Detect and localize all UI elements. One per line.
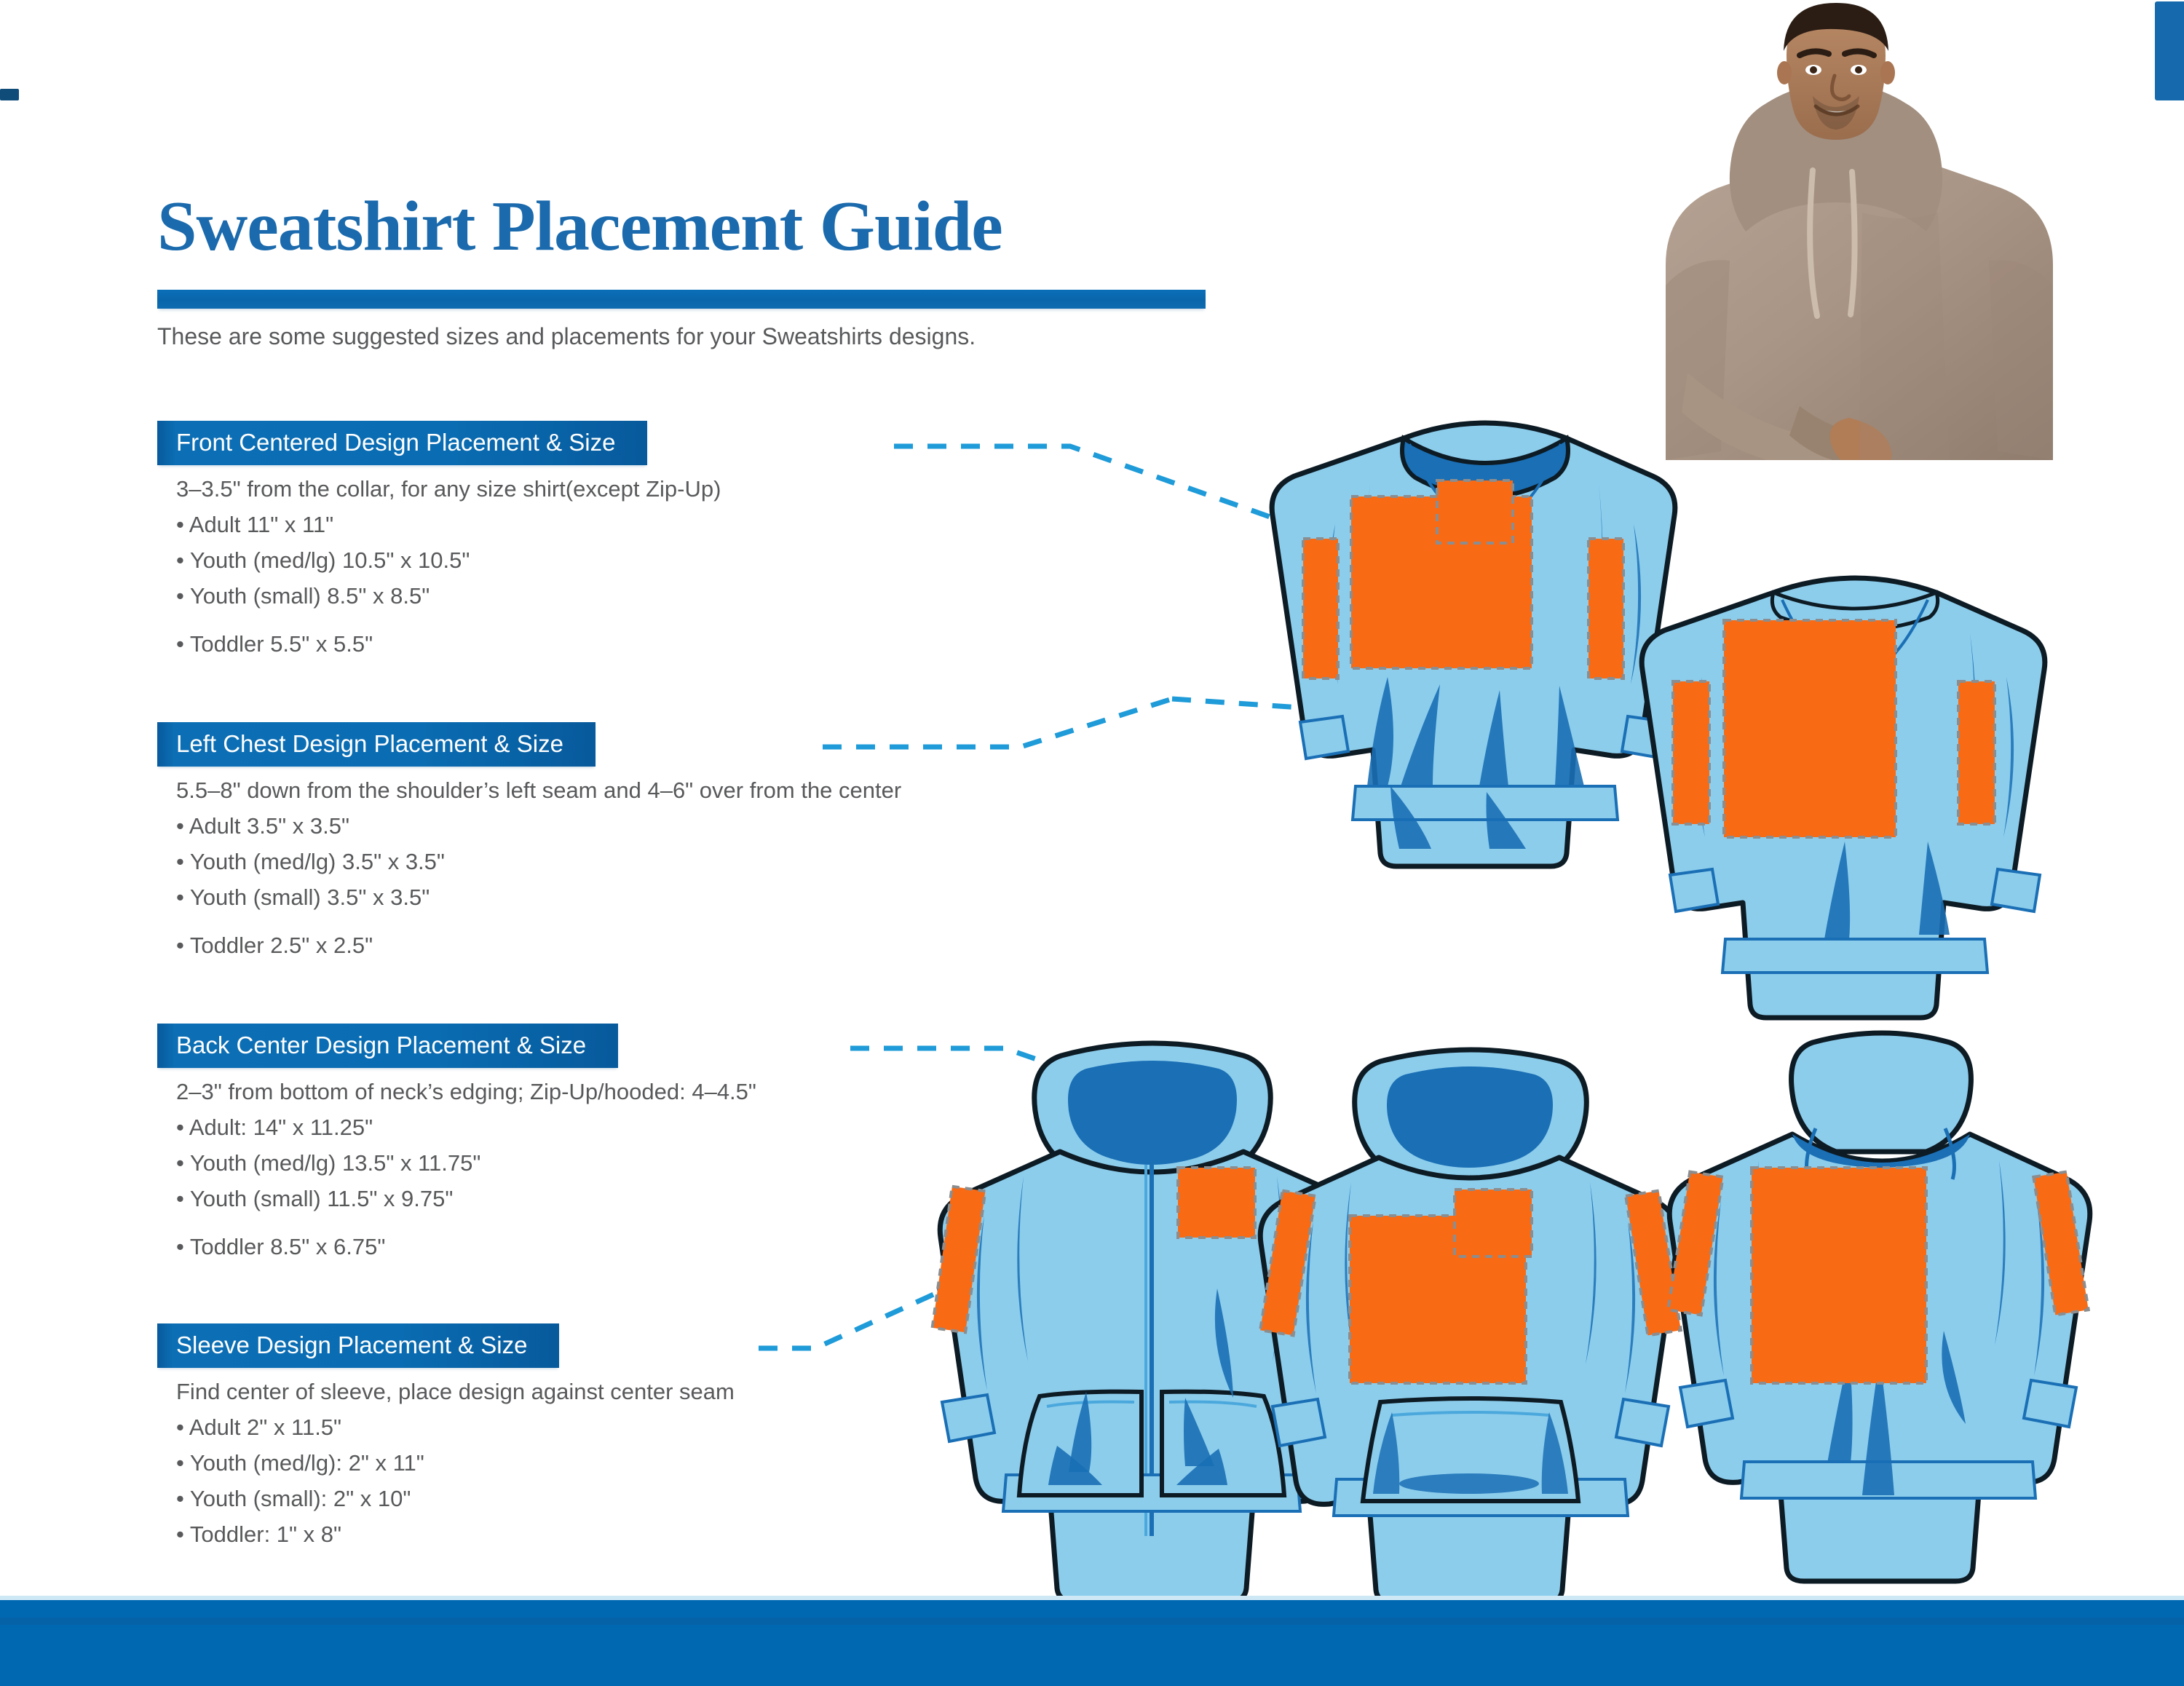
section-size-list: Adult 11" x 11" Youth (med/lg) 10.5" x 1…	[157, 512, 721, 657]
list-item: Youth (small) 3.5" x 3.5"	[176, 884, 901, 911]
list-item: Toddler: 1" x 8"	[176, 1521, 735, 1548]
list-item: Adult 11" x 11"	[176, 512, 721, 538]
section-lead-text: Find center of sleeve, place design agai…	[176, 1379, 735, 1405]
section-heading[interactable]: Front Centered Design Placement & Size	[157, 421, 647, 465]
section-lead-text: 3–3.5" from the collar, for any size shi…	[176, 476, 721, 502]
list-item: Youth (med/lg) 13.5" x 11.75"	[176, 1150, 756, 1176]
list-item: Adult: 14" x 11.25"	[176, 1115, 756, 1141]
list-item: Youth (med/lg) 3.5" x 3.5"	[176, 849, 901, 875]
garment-crewneck-back	[1629, 553, 2081, 1034]
placement-guide-page: Sweatshirt Placement Guide These are som…	[0, 0, 2184, 1686]
model-photo	[1644, 0, 2095, 460]
right-edge-accent-bar	[2155, 1, 2184, 100]
section-heading[interactable]: Back Center Design Placement & Size	[157, 1024, 618, 1068]
section-back-center: Back Center Design Placement & Size 2–3"…	[157, 1024, 756, 1260]
section-heading[interactable]: Sleeve Design Placement & Size	[157, 1323, 559, 1368]
section-left-chest: Left Chest Design Placement & Size 5.5–8…	[157, 722, 901, 959]
title-underline-bar	[157, 290, 1206, 309]
garment-hoodie-back	[1644, 1025, 2110, 1600]
list-item: Toddler 5.5" x 5.5"	[176, 631, 721, 657]
footer-bar	[0, 1600, 2184, 1686]
page-subtitle: These are some suggested sizes and place…	[157, 323, 976, 350]
section-lead-text: 5.5–8" down from the shoulder’s left sea…	[176, 777, 901, 804]
garment-hoodie-front	[1238, 1042, 1704, 1610]
left-edge-accent-mark	[0, 89, 19, 100]
list-item: Youth (med/lg): 2" x 11"	[176, 1450, 735, 1476]
list-item: Adult 2" x 11.5"	[176, 1414, 735, 1441]
section-heading[interactable]: Left Chest Design Placement & Size	[157, 722, 596, 767]
page-title: Sweatshirt Placement Guide	[157, 191, 1002, 262]
section-size-list: Adult 3.5" x 3.5" Youth (med/lg) 3.5" x …	[157, 813, 901, 959]
list-item: Toddler 2.5" x 2.5"	[176, 933, 901, 959]
list-item: Toddler 8.5" x 6.75"	[176, 1234, 756, 1260]
section-size-list: Adult: 14" x 11.25" Youth (med/lg) 13.5"…	[157, 1115, 756, 1260]
list-item: Youth (small) 11.5" x 9.75"	[176, 1186, 756, 1212]
section-front-centered: Front Centered Design Placement & Size 3…	[157, 421, 721, 657]
section-size-list: Adult 2" x 11.5" Youth (med/lg): 2" x 11…	[157, 1414, 735, 1548]
list-item: Youth (small) 8.5" x 8.5"	[176, 583, 721, 609]
list-item: Adult 3.5" x 3.5"	[176, 813, 901, 839]
list-item: Youth (med/lg) 10.5" x 10.5"	[176, 547, 721, 574]
list-item: Youth (small): 2" x 10"	[176, 1486, 735, 1512]
section-lead-text: 2–3" from bottom of neck’s edging; Zip-U…	[176, 1079, 756, 1105]
section-sleeve: Sleeve Design Placement & Size Find cent…	[157, 1323, 735, 1548]
